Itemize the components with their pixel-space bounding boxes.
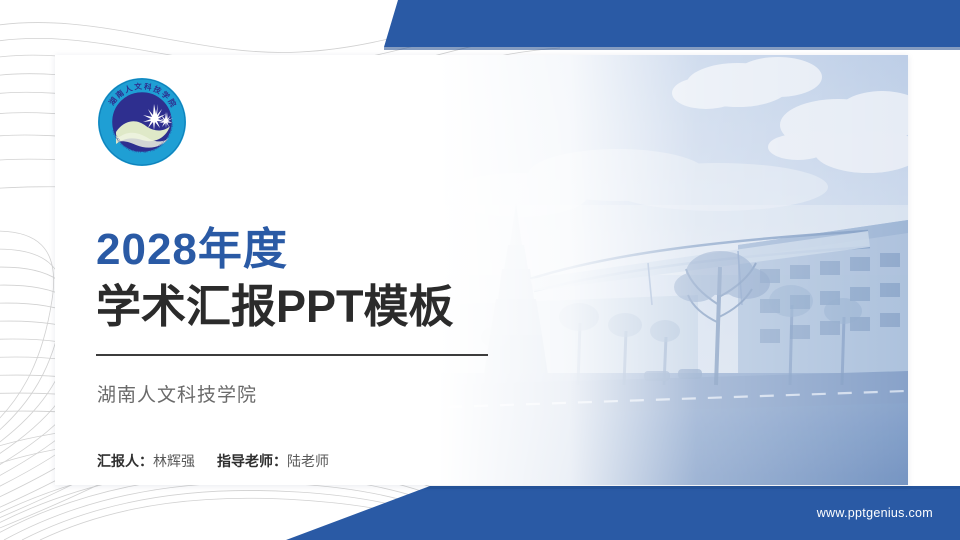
footer-website-url[interactable]: www.pptgenius.com <box>817 506 933 520</box>
university-logo-icon: 湖南人文科技学院 HUNAN UNIVERSITY OF HUMANITIES,… <box>96 76 188 168</box>
presenter-label: 汇报人 <box>97 453 139 469</box>
presenter-name: 林辉强 <box>153 453 195 469</box>
presentation-slide: 湖南人文科技学院 HUNAN UNIVERSITY OF HUMANITIES,… <box>0 0 960 540</box>
presenter-separator: ： <box>139 453 153 469</box>
content-card: 湖南人文科技学院 HUNAN UNIVERSITY OF HUMANITIES,… <box>55 55 908 485</box>
year-heading: 2028年度 <box>96 228 288 272</box>
title-divider <box>96 354 488 356</box>
page-title: 学术汇报PPT模板 <box>96 284 454 329</box>
advisor-label: 指导老师 <box>217 453 273 469</box>
advisor-separator: ： <box>273 453 287 469</box>
title-block: 湖南人文科技学院 HUNAN UNIVERSITY OF HUMANITIES,… <box>96 55 526 485</box>
byline: 汇报人：林辉强指导老师：陆老师 <box>97 451 329 471</box>
organization-name: 湖南人文科技学院 <box>97 380 257 407</box>
advisor-name: 陆老师 <box>287 453 329 469</box>
